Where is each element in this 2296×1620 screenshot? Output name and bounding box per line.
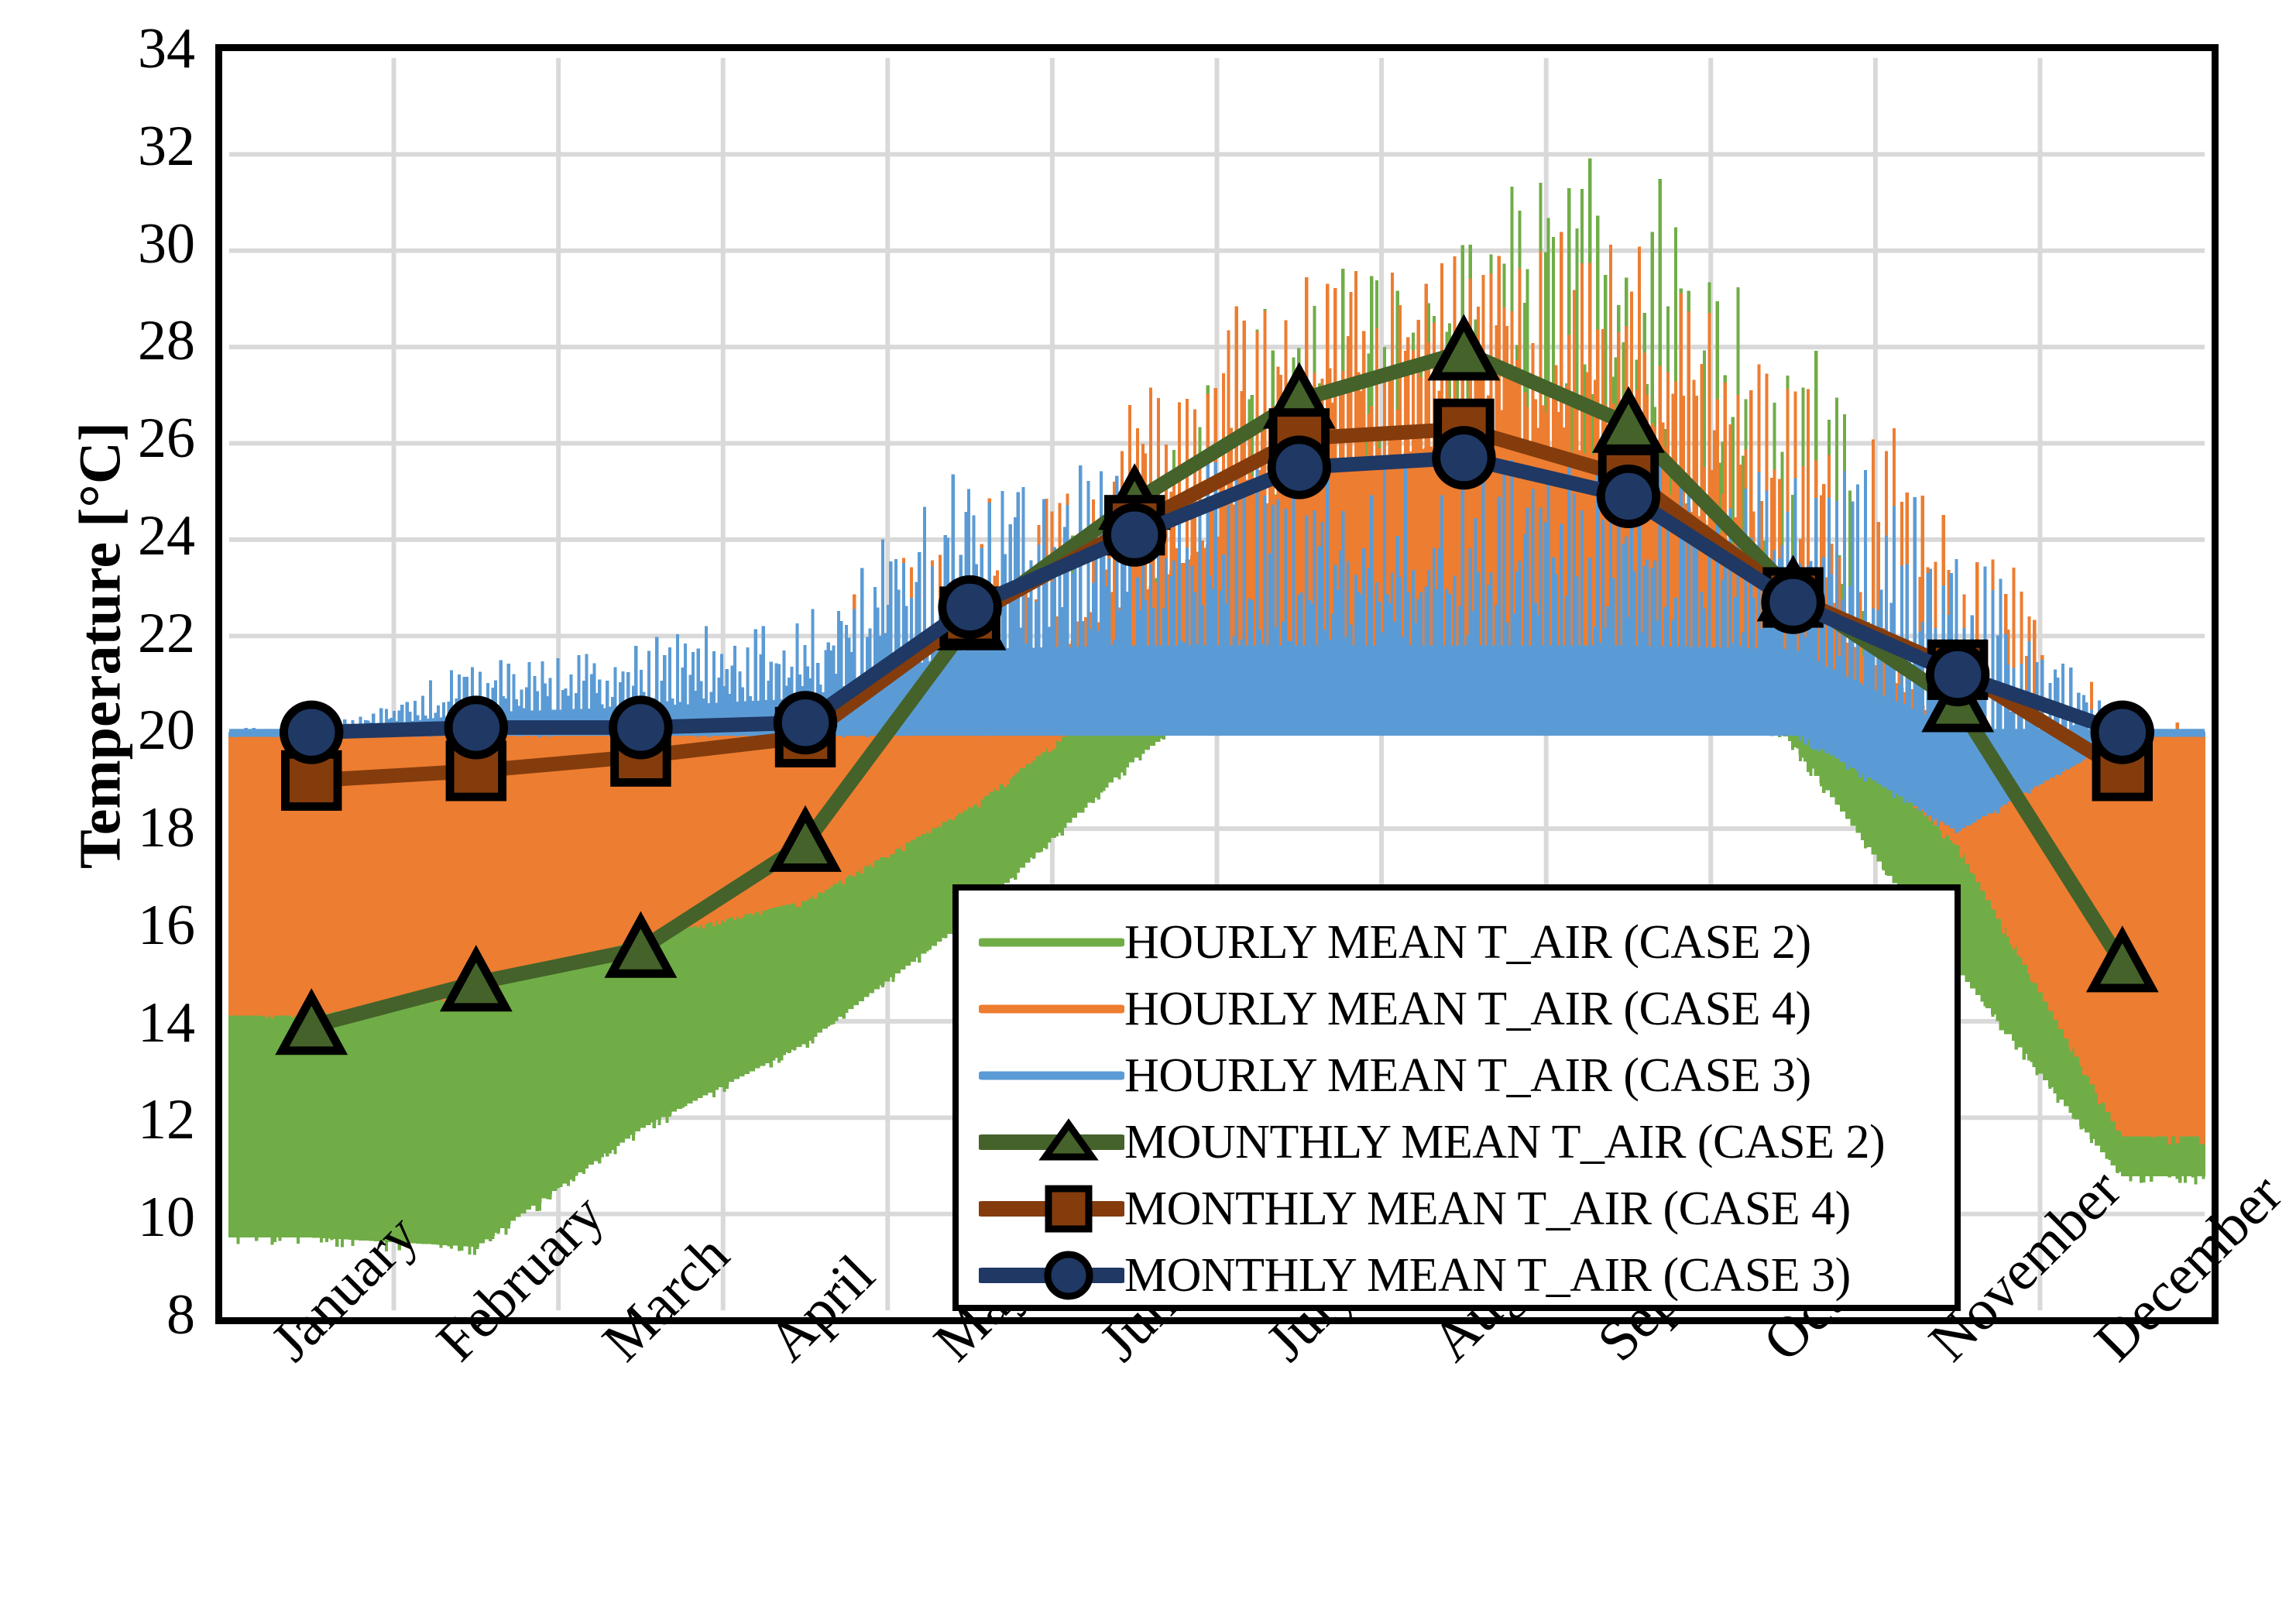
y-tick-label: 32 xyxy=(17,118,195,175)
chart-figure: Temperature [°C] 34323028262422201816141… xyxy=(0,0,2296,1620)
monthly-marker-circle xyxy=(1601,468,1656,523)
legend-item-label: MONTHLY MEAN T_AIR (CASE 3) xyxy=(1124,1248,1851,1303)
y-tick-label: 16 xyxy=(17,897,195,954)
legend-item[interactable]: MONTHLY MEAN T_AIR (CASE 4) xyxy=(959,1176,1955,1242)
legend-symbol-line-icon xyxy=(979,909,1124,976)
legend-item[interactable]: MONTHLY MEAN T_AIR (CASE 3) xyxy=(959,1242,1955,1309)
y-tick-label: 34 xyxy=(17,20,195,77)
legend-item[interactable]: HOURLY MEAN T_AIR (CASE 4) xyxy=(959,976,1955,1042)
monthly-marker-circle xyxy=(1107,507,1162,562)
y-tick-label: 20 xyxy=(17,702,195,759)
legend-item-label: MONTHLY MEAN T_AIR (CASE 4) xyxy=(1124,1182,1851,1237)
monthly-marker-circle xyxy=(777,695,832,750)
chart-legend: HOURLY MEAN T_AIR (CASE 2)HOURLY MEAN T_… xyxy=(952,884,1961,1311)
legend-symbol-square-icon xyxy=(979,1176,1124,1242)
monthly-marker-circle xyxy=(448,700,503,755)
y-tick-label: 24 xyxy=(17,507,195,565)
y-tick-label: 28 xyxy=(17,312,195,369)
legend-item-label: HOURLY MEAN T_AIR (CASE 2) xyxy=(1124,915,1811,970)
legend-item[interactable]: HOURLY MEAN T_AIR (CASE 2) xyxy=(959,909,1955,976)
legend-symbol-circle-icon xyxy=(979,1242,1124,1309)
y-tick-label: 18 xyxy=(17,799,195,856)
legend-symbol-triangle-icon xyxy=(979,1109,1124,1176)
y-tick-label: 22 xyxy=(17,605,195,662)
monthly-marker-circle xyxy=(613,700,668,755)
y-tick-label: 26 xyxy=(17,410,195,467)
monthly-marker-circle xyxy=(942,579,997,634)
legend-item-label: HOURLY MEAN T_AIR (CASE 4) xyxy=(1124,982,1811,1037)
legend-symbol-line-icon xyxy=(979,976,1124,1042)
y-tick-label: 12 xyxy=(17,1091,195,1148)
y-tick-label: 10 xyxy=(17,1189,195,1246)
y-tick-label: 14 xyxy=(17,994,195,1052)
monthly-marker-circle xyxy=(2095,705,2150,760)
legend-item-label: MOUNTHLY MEAN T_AIR (CASE 2) xyxy=(1124,1115,1885,1170)
monthly-marker-circle xyxy=(1930,647,1985,702)
legend-symbol-line-icon xyxy=(979,1042,1124,1109)
monthly-marker-circle xyxy=(1766,575,1821,630)
monthly-marker-circle xyxy=(1272,440,1326,495)
monthly-marker-circle xyxy=(1436,431,1491,486)
legend-item[interactable]: HOURLY MEAN T_AIR (CASE 3) xyxy=(959,1042,1955,1109)
legend-item-label: HOURLY MEAN T_AIR (CASE 3) xyxy=(1124,1049,1811,1103)
legend-item[interactable]: MOUNTHLY MEAN T_AIR (CASE 2) xyxy=(959,1109,1955,1176)
monthly-marker-circle xyxy=(283,705,338,760)
x-axis-tick-labels: JanuaryFebruaryMarchAprilMayJuneJulyAugu… xyxy=(0,1328,2296,1620)
y-tick-label: 30 xyxy=(17,215,195,273)
